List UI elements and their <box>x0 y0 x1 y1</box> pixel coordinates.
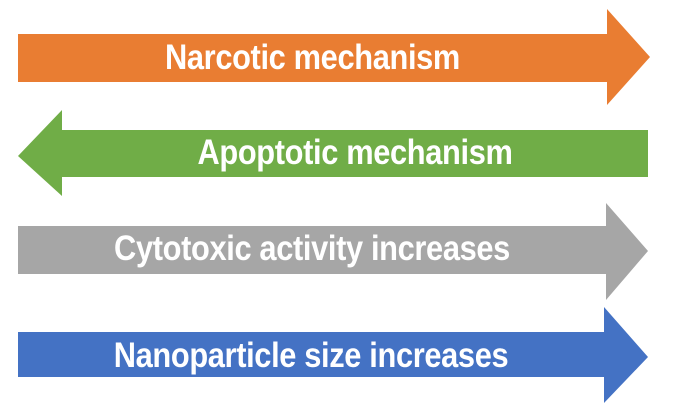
arrow-apoptotic: Apoptotic mechanism <box>0 104 673 204</box>
arrow-narcotic: Narcotic mechanism <box>0 0 673 112</box>
arrow-cytotoxic: Cytotoxic activity increases <box>0 200 673 305</box>
arrow-diagram: Narcotic mechanism Apoptotic mechanism C… <box>0 0 673 419</box>
arrow-right-shape-gray <box>0 200 673 305</box>
arrow-left-shape-green <box>0 104 673 204</box>
arrow-nanoparticle: Nanoparticle size increases <box>0 303 673 419</box>
arrow-right-shape-blue <box>0 303 673 419</box>
arrow-right-shape-orange <box>0 0 673 112</box>
